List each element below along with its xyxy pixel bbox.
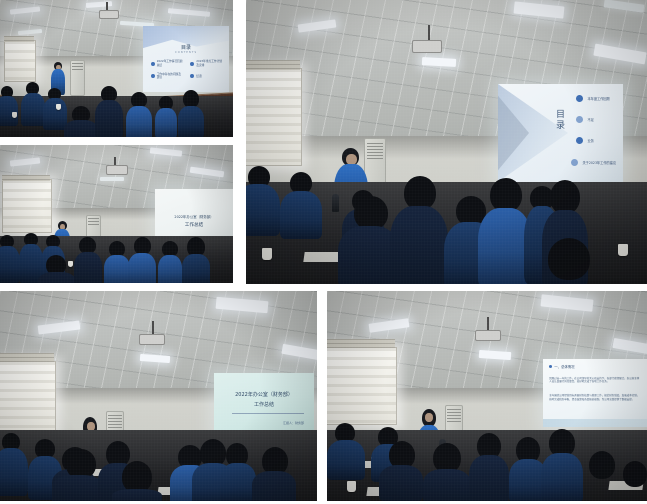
head [550, 180, 580, 214]
bullet-dot [190, 74, 194, 78]
window [0, 361, 56, 439]
slide-toc-label: 2022年工作情况回顾总结 [157, 60, 183, 66]
attendee [0, 86, 18, 126]
slide-title-line1: 2022年办公室（财务部） [155, 214, 233, 219]
attendee [0, 235, 18, 283]
projector [106, 165, 128, 175]
window [327, 347, 397, 425]
attendee [541, 429, 583, 501]
bullet-dot [549, 365, 552, 368]
paper-cup [56, 104, 61, 110]
bullet-dot [151, 74, 155, 78]
bullet-dot [190, 62, 194, 66]
paper-cup [12, 112, 17, 118]
attendee [252, 447, 296, 501]
uniform-jacket [64, 120, 98, 137]
panel-middle-left: 2022年办公室（财务部） 工作总结 [0, 145, 233, 283]
face [425, 413, 433, 422]
attendee [112, 461, 162, 501]
uniform-jacket [423, 469, 471, 501]
window-blind [0, 353, 54, 362]
slide-toc-item: 不足 [576, 116, 594, 123]
bullet-dot [576, 137, 583, 144]
slide-toc-label: 不足 [588, 117, 594, 122]
projector [99, 10, 119, 19]
uniform-jacket [379, 465, 423, 501]
attendee [178, 90, 204, 137]
attendee [66, 106, 96, 137]
slide-paragraph: 全年围绕公司经营目标开展财务核算与管理工作，规范财务制度，加强成本控制，按时完成… [549, 394, 641, 401]
head [354, 196, 388, 230]
uniform-jacket [0, 246, 20, 283]
attendee [329, 423, 363, 477]
uniform-jacket [155, 108, 177, 137]
uniform-jacket [178, 106, 204, 137]
uniform-jacket [112, 489, 162, 501]
window [4, 40, 36, 82]
attendee [44, 88, 66, 130]
window-blind [2, 175, 50, 181]
slide-toc-label: 业务 [588, 138, 594, 143]
uniform-jacket [246, 184, 280, 236]
uniform-jacket [74, 252, 102, 283]
bullet-dot [571, 159, 578, 166]
uniform-jacket [158, 255, 182, 283]
head [548, 238, 590, 280]
slide-toc-label: 关于2023年工作的建议 [583, 160, 617, 165]
attendee [617, 461, 647, 501]
uniform-jacket [252, 471, 296, 501]
uniform-jacket [128, 253, 156, 283]
slide-toc-item: 关于2023年工作的建议 [571, 159, 617, 166]
attendee [379, 441, 423, 499]
uniform-jacket [126, 106, 152, 137]
window [246, 68, 302, 166]
head [490, 178, 522, 212]
paper-cup [262, 248, 272, 260]
slide-subtitle: CONTENTS [143, 51, 229, 54]
projector [139, 334, 165, 345]
slide-title-line1: 2022年办公室（财务部） [214, 391, 314, 398]
attendee [469, 433, 509, 501]
ceiling-light [422, 57, 456, 67]
ceiling-light [100, 177, 124, 181]
attendee [182, 237, 210, 283]
projector [412, 40, 442, 53]
slide-heading: 一、总体情况 [554, 364, 574, 369]
uniform-jacket [220, 463, 256, 501]
attendee [158, 241, 182, 283]
projection-screen: 一、总体情况 回顾过去一年的工作，在公司领导的关心和支持下，各部门密切配合，办公… [543, 359, 647, 427]
slide-divider [232, 413, 304, 414]
uniform-jacket [469, 455, 509, 501]
panel-top-right: 目录 本年度工作回顾 不足 业务 关于2023年工作的建议 [246, 0, 647, 284]
projection-screen: 2022年办公室（财务部） 工作总结 汇报人：财务部 [214, 373, 314, 437]
head [589, 451, 615, 479]
projection-screen: 目录 CONTENTS 2022年工作情况回顾总结 2023年重点工作计划及安排… [143, 26, 229, 92]
attendee [74, 237, 102, 283]
slide-byline: 汇报人：财务部 [283, 421, 304, 425]
slide-toc-item: 工作中存在的问题及建议 [151, 73, 183, 79]
attendee [155, 96, 177, 137]
uniform-jacket [38, 272, 76, 283]
attendee [0, 433, 26, 495]
projector-mount [487, 317, 489, 331]
uniform-jacket [43, 98, 67, 130]
attendee [104, 241, 130, 283]
attendee [423, 443, 471, 501]
attendee [128, 237, 156, 283]
attendee [392, 176, 446, 284]
window-blind [4, 36, 34, 42]
attendee [52, 449, 104, 501]
head [623, 461, 647, 487]
slide-toc-item: 本年度工作回顾 [576, 95, 610, 102]
panel-bottom-right: 一、总体情况 回顾过去一年的工作，在公司领导的关心和支持下，各部门密切配合，办公… [327, 291, 647, 501]
attendee [22, 82, 44, 126]
slide-toc-label: 结语 [196, 74, 201, 78]
bullet-dot [151, 62, 155, 66]
slide-toc-item: 业务 [576, 137, 594, 144]
bullet-dot [576, 95, 583, 102]
bullet-dot [576, 116, 583, 123]
slide-title-line2: 工作总结 [214, 401, 314, 408]
window [2, 179, 52, 233]
attendee [246, 166, 278, 236]
attendee [282, 172, 320, 238]
attendee [40, 255, 74, 283]
photo-collage: 目录 CONTENTS 2022年工作情况回顾总结 2023年重点工作计划及安排… [0, 0, 647, 504]
uniform-jacket [21, 93, 45, 126]
paper-cup [618, 244, 628, 256]
attendee [20, 233, 42, 283]
slide-toc-label: 工作中存在的问题及建议 [157, 73, 183, 79]
panel-bottom-left: 2022年办公室（财务部） 工作总结 汇报人：财务部 [0, 291, 317, 501]
uniform-jacket [327, 440, 365, 480]
attendee [126, 92, 152, 137]
attendee [95, 86, 123, 137]
uniform-jacket [280, 191, 322, 239]
slide-toc-label: 本年度工作回顾 [588, 96, 610, 101]
uniform-jacket [0, 96, 18, 126]
uniform-jacket [104, 255, 130, 283]
projector [475, 330, 501, 341]
projector-mount [152, 321, 154, 335]
slide-toc-item: 2023年重点工作计划及安排 [190, 60, 222, 66]
slide-title-line2: 工作总结 [155, 222, 233, 228]
paper-cup [347, 481, 356, 492]
uniform-jacket [0, 448, 28, 496]
slide-toc-item: 2022年工作情况回顾总结 [151, 60, 183, 66]
slide-toc-label: 2023年重点工作计划及安排 [196, 60, 222, 66]
panel-top-left: 目录 CONTENTS 2022年工作情况回顾总结 2023年重点工作计划及安排… [0, 0, 233, 137]
slide-decoration [543, 419, 647, 427]
projector-mount [428, 25, 430, 41]
uniform-jacket [95, 100, 123, 137]
uniform-jacket [541, 453, 583, 501]
slide-heading-row: 一、总体情况 [549, 364, 574, 369]
projection-screen: 目录 本年度工作回顾 不足 业务 关于2023年工作的建议 [498, 84, 623, 182]
attendee [534, 238, 604, 284]
air-conditioner [70, 60, 85, 96]
window-blind [327, 339, 395, 348]
slide-toc-item: 结语 [190, 74, 201, 78]
uniform-jacket [182, 254, 210, 283]
slide-paragraph: 回顾过去一年的工作，在公司领导的关心和支持下，各部门密切配合，办公室全体人员认真… [549, 377, 641, 384]
head [404, 176, 436, 210]
uniform-jacket [52, 475, 104, 501]
window-blind [246, 60, 300, 70]
slide-title: 目录 [553, 109, 566, 131]
uniform-jacket [390, 206, 448, 284]
attendee [220, 443, 256, 501]
